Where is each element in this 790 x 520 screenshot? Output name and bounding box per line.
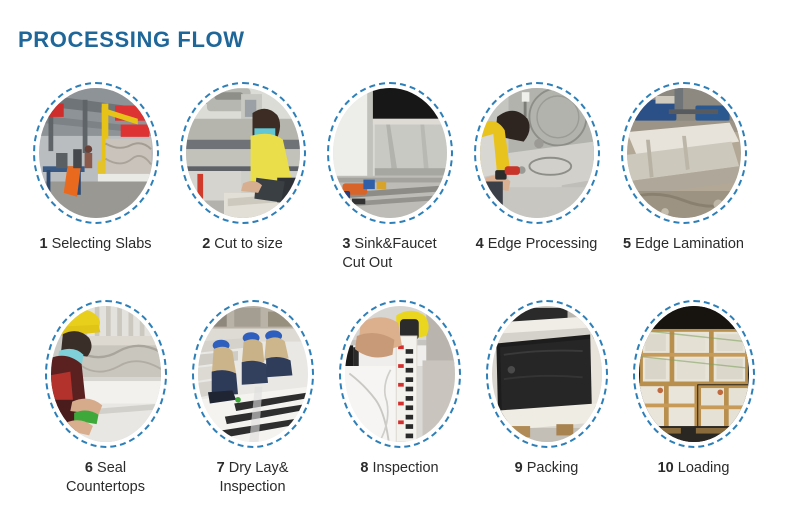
process-step-8[interactable]: 8 Inspection [326,300,473,497]
process-step-9[interactable]: 9 Packing [473,300,620,497]
process-step-5[interactable]: 5 Edge Lamination [610,82,757,273]
step-7-photo-frame[interactable] [192,300,314,448]
step-1-photo [39,88,153,218]
step-3-photo [333,88,447,218]
step-2-photo [186,88,300,218]
step-2-photo-frame[interactable] [180,82,306,224]
process-step-2[interactable]: 2 Cut to size [169,82,316,273]
step-6-caption: 6 Seal Countertops [66,459,145,497]
step-10-caption: 10 Loading [658,459,730,478]
page-title: PROCESSING FLOW [18,27,245,53]
step-4-caption: 4 Edge Processing [476,235,598,254]
step-7-photo [198,306,308,442]
process-step-4[interactable]: 4 Edge Processing [463,82,610,273]
step-9-photo [492,306,602,442]
step-7-caption: 7 Dry Lay& Inspection [217,459,289,497]
step-1-caption: 1 Selecting Slabs [39,235,151,254]
step-5-caption: 5 Edge Lamination [623,235,744,254]
process-step-1[interactable]: 1 Selecting Slabs [22,82,169,273]
process-step-6[interactable]: 6 Seal Countertops [32,300,179,497]
step-8-photo [345,306,455,442]
step-5-photo [627,88,741,218]
process-row-top: 1 Selecting Slabs [0,82,790,273]
process-step-10[interactable]: 10 Loading [620,300,767,497]
step-4-photo [480,88,594,218]
process-step-7[interactable]: 7 Dry Lay& Inspection [179,300,326,497]
step-2-caption: 2 Cut to size [202,235,283,254]
process-row-bottom: 6 Seal Countertops [0,300,790,497]
step-6-photo [51,306,161,442]
process-step-3[interactable]: 3 Sink&Faucet Cut Out [316,82,463,273]
step-8-photo-frame[interactable] [339,300,461,448]
step-9-caption: 9 Packing [515,459,579,478]
step-9-photo-frame[interactable] [486,300,608,448]
step-10-photo-frame[interactable] [633,300,755,448]
step-3-caption: 3 Sink&Faucet Cut Out [342,235,436,273]
step-3-photo-frame[interactable] [327,82,453,224]
step-10-photo [639,306,749,442]
step-8-caption: 8 Inspection [360,459,438,478]
step-6-photo-frame[interactable] [45,300,167,448]
step-1-photo-frame[interactable] [33,82,159,224]
step-5-photo-frame[interactable] [621,82,747,224]
step-4-photo-frame[interactable] [474,82,600,224]
